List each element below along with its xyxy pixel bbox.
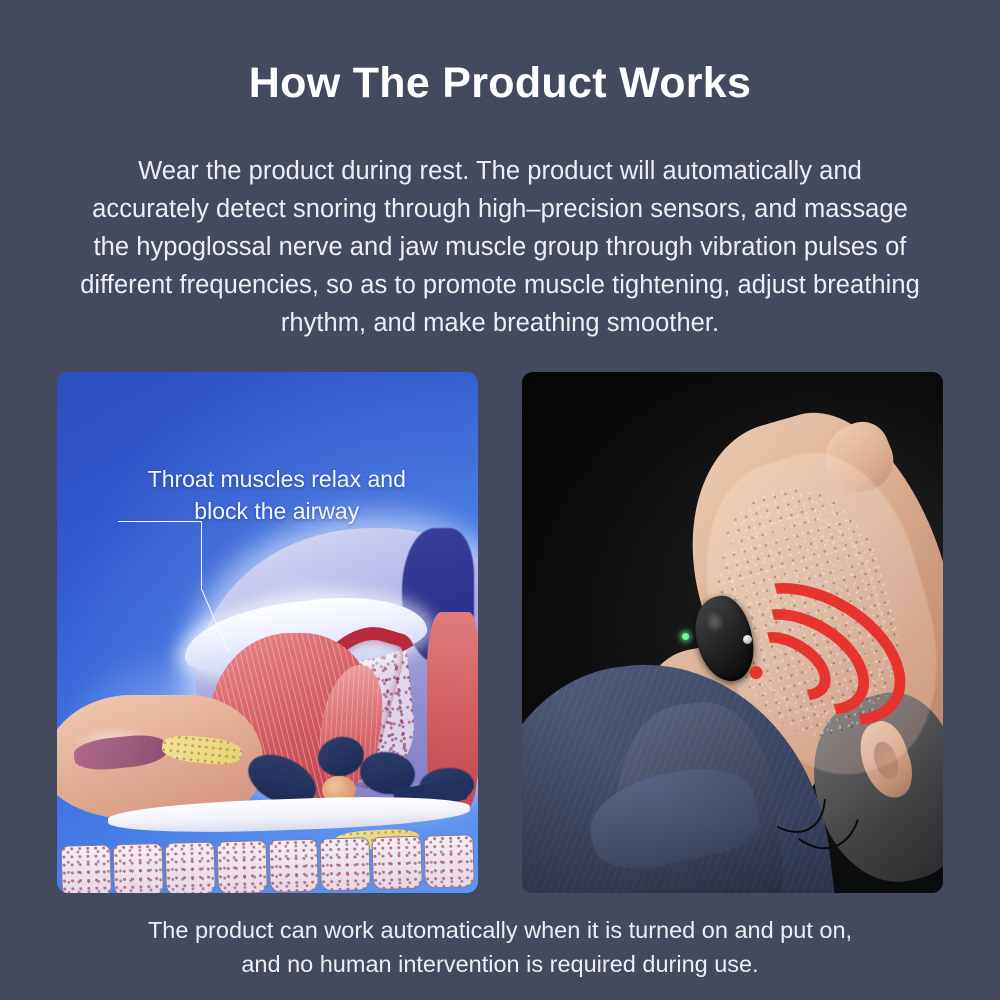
- vertebra: [320, 837, 371, 891]
- product-infographic-page: How The Product Works Wear the product d…: [0, 0, 1000, 1000]
- callout-line-1: Throat muscles relax and: [117, 463, 437, 495]
- left-image-panel: Throat muscles relax and block the airwa…: [57, 372, 478, 893]
- device-led-indicator: [682, 633, 689, 640]
- panels-row: Throat muscles relax and block the airwa…: [0, 372, 1000, 893]
- airway-anatomy-illustration: Throat muscles relax and block the airwa…: [57, 372, 478, 893]
- vertebra: [268, 839, 319, 893]
- vertebra: [216, 840, 267, 893]
- callout-leader-vertical: [201, 521, 202, 590]
- vertebra: [164, 842, 215, 893]
- right-image-panel: [522, 372, 943, 893]
- intro-paragraph: Wear the product during rest. The produc…: [78, 152, 922, 342]
- vertebra: [423, 834, 474, 888]
- footer-caption: The product can work automatically when …: [78, 913, 922, 981]
- vertebra: [372, 836, 423, 890]
- footer-caption-line-2: and no human intervention is required du…: [241, 951, 758, 977]
- vertebra: [113, 843, 164, 893]
- vertebra: [61, 845, 112, 893]
- callout-line-2: block the airway: [117, 495, 437, 527]
- cervical-vertebrae: [57, 819, 478, 893]
- airway-callout-label: Throat muscles relax and block the airwa…: [117, 463, 437, 527]
- footer-caption-line-1: The product can work automatically when …: [148, 917, 852, 943]
- page-title: How The Product Works: [0, 57, 1000, 109]
- sleeping-user-photo: [522, 372, 943, 893]
